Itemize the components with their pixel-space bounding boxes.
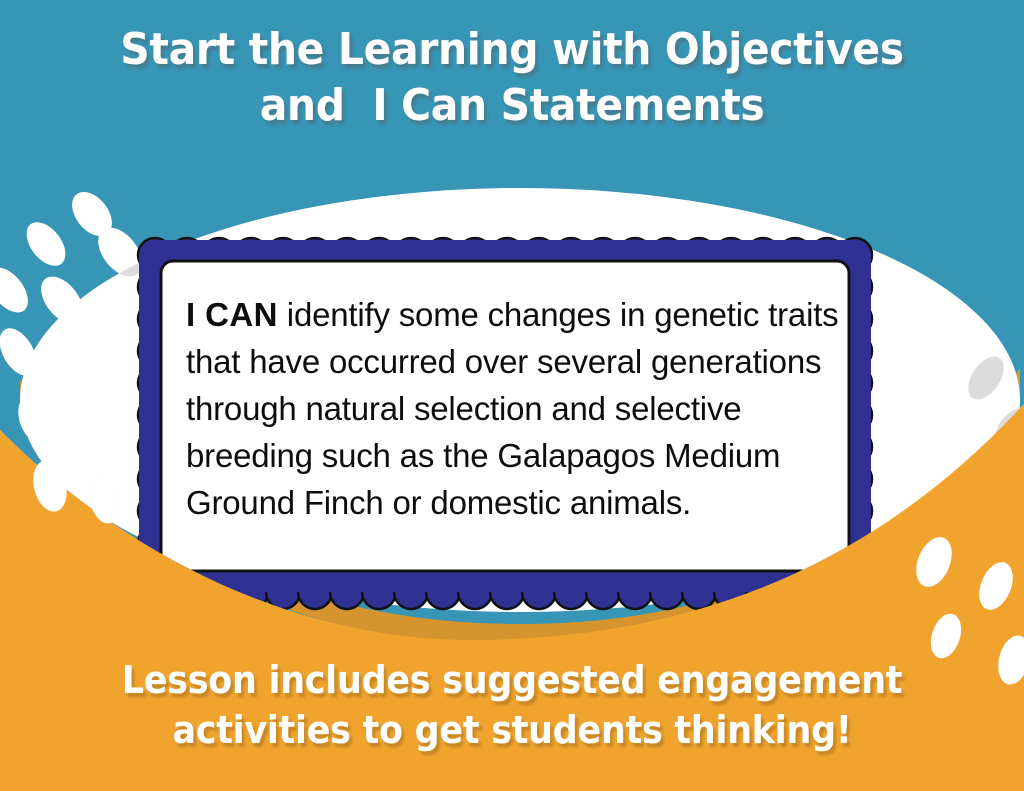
i-can-label: I CAN xyxy=(186,296,278,333)
slide-canvas: Start the Learning with Objectives and I… xyxy=(0,0,1024,791)
i-can-statement: I CAN identify some changes in genetic t… xyxy=(186,291,846,526)
i-can-body: identify some changes in genetic traits … xyxy=(186,296,838,521)
